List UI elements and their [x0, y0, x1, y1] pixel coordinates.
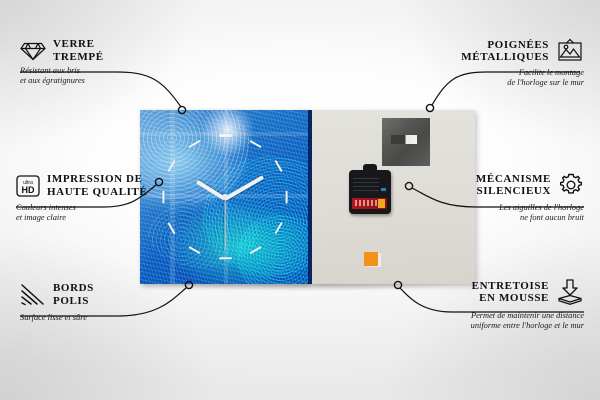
metal-hanger-plate	[382, 118, 430, 166]
hanger-slot	[391, 135, 417, 144]
mechanism-tab	[363, 164, 377, 172]
clock-tick	[188, 246, 200, 254]
callout-desc-line2: et aux égratignures	[20, 76, 150, 86]
mechanism-indicator	[381, 188, 386, 191]
callout-title-line1: MÉCANISME	[476, 173, 551, 186]
picture-hanger-icon	[556, 38, 584, 64]
callout-desc-line2: uniforme entre l'horloge et le mur	[412, 321, 584, 331]
battery-positive-terminal	[378, 199, 385, 208]
callout-desc-line2: de l'horloge sur le mur	[440, 78, 584, 88]
clock-mechanism	[349, 170, 391, 214]
battery-label	[355, 200, 379, 206]
product-image	[140, 110, 475, 284]
callout-entretoise-en-mousse[interactable]: ENTRETOISE EN MOUSSE Permet de maintenir…	[412, 278, 584, 331]
callout-title-line1: POIGNÉES	[461, 39, 549, 52]
svg-text:HD: HD	[22, 185, 35, 195]
clock-tick	[250, 140, 262, 148]
callout-title-line2: SILENCIEUX	[476, 185, 551, 198]
foam-spacer-arrow-icon	[556, 278, 584, 306]
callout-title-line2: MÉTALLIQUES	[461, 51, 549, 64]
clock-minute-hand	[224, 175, 264, 200]
clock-tick	[168, 160, 176, 172]
mechanism-label	[353, 175, 379, 191]
callout-mecanisme-silencieux[interactable]: MÉCANISME SILENCIEUX Les aiguilles de l'…	[432, 172, 584, 223]
callout-title-line1: VERRE	[53, 38, 104, 51]
callout-title-line1: IMPRESSION DE	[47, 173, 147, 186]
callout-impression-haute-qualite[interactable]: ultra HD IMPRESSION DE HAUTE QUALITÉ Cou…	[16, 173, 166, 223]
callout-desc-line1: Résistant aux bris	[20, 66, 150, 76]
callout-bords-polis[interactable]: BORDS POLIS Surface lisse et sûre	[20, 282, 160, 323]
callout-title-line2: EN MOUSSE	[472, 292, 549, 305]
callout-title-line2: TREMPÉ	[53, 51, 104, 64]
clock-tick	[285, 190, 287, 203]
callout-title-line1: ENTRETOISE	[472, 280, 549, 293]
battery	[352, 198, 387, 209]
clock-tick	[274, 222, 282, 234]
clock-tick	[219, 257, 232, 259]
clock-hand-cap	[222, 194, 228, 200]
callout-desc-line2: ne font aucun bruit	[432, 213, 584, 223]
clock-tick	[219, 134, 232, 136]
clock-tick	[168, 222, 176, 234]
callout-title-line2: HAUTE QUALITÉ	[47, 186, 147, 199]
callout-desc-line1: Couleurs intenses	[16, 203, 166, 213]
diamond-icon	[20, 40, 46, 62]
callout-title-line1: BORDS	[53, 282, 94, 295]
callout-desc-line1: Facilite le montage	[440, 68, 584, 78]
callout-poignees-metalliques[interactable]: POIGNÉES MÉTALLIQUES Facilite le montage…	[440, 38, 584, 88]
infographic-canvas: VERRE TREMPÉ Résistant aux bris et aux é…	[0, 0, 600, 400]
callout-desc-line1: Surface lisse et sûre	[20, 313, 160, 323]
callout-desc-line1: Les aiguilles de l'horloge	[432, 203, 584, 213]
foam-spacer	[364, 252, 378, 266]
clock-second-hand	[224, 198, 225, 250]
callout-verre-trempe[interactable]: VERRE TREMPÉ Résistant aux bris et aux é…	[20, 38, 150, 86]
callout-desc-line1: Permet de maintenir une distance	[412, 311, 584, 321]
ultra-hd-icon: ultra HD	[16, 174, 40, 198]
clock-tick	[188, 140, 200, 148]
clock-tick	[274, 160, 282, 172]
callout-title-line2: POLIS	[53, 295, 94, 308]
callout-desc-line2: et image claire	[16, 213, 166, 223]
polished-edge-icon	[20, 283, 46, 307]
clock-tick	[250, 246, 262, 254]
gear-icon	[558, 172, 584, 198]
